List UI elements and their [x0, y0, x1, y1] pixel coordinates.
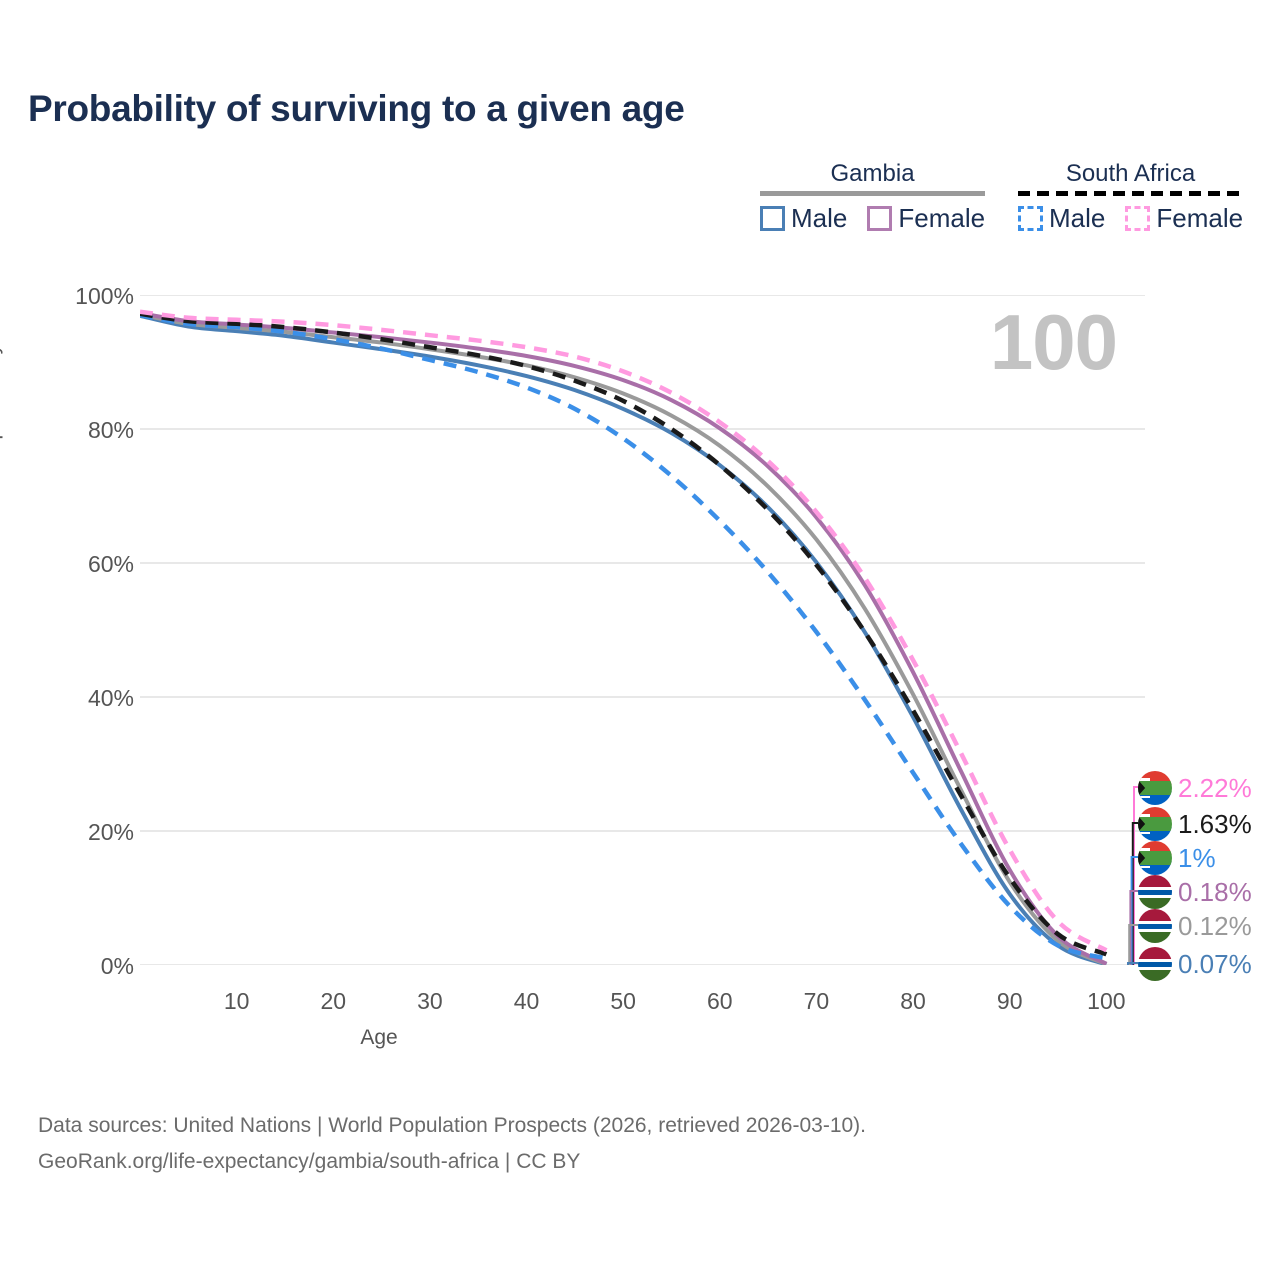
end-label-south-africa-2[interactable]: 1% [1138, 840, 1216, 876]
x-axis-tick-label: 10 [192, 988, 282, 1015]
y-axis-tick-label: 40% [14, 685, 134, 712]
end-label-value: 0.12% [1178, 913, 1252, 939]
end-label-value: 0.07% [1178, 951, 1252, 977]
end-label-gambia-3[interactable]: 0.18% [1138, 874, 1252, 910]
gambia-flag-icon [1138, 947, 1172, 981]
south-africa-flag-icon [1138, 807, 1172, 841]
y-axis-tick-label: 20% [14, 819, 134, 846]
x-axis-tick-label: 30 [385, 988, 475, 1015]
end-label-gambia-5[interactable]: 0.07% [1138, 946, 1252, 982]
y-axis-title: Survival probability [0, 344, 4, 520]
legend-swatch-gambia-male [760, 206, 785, 231]
series-line [140, 316, 1106, 965]
legend-group-gambia: Gambia Male Female [760, 160, 985, 231]
chart-canvas [140, 295, 1145, 965]
chart-legend: Gambia Male Female South Africa Male [760, 160, 1260, 250]
end-label-value: 1.63% [1178, 811, 1252, 837]
series-line [140, 315, 1106, 958]
legend-rule-dashed [1018, 191, 1243, 196]
footer-line-sources: Data sources: United Nations | World Pop… [38, 1108, 866, 1144]
legend-label-gambia-male: Male [791, 205, 847, 231]
plot-area: 100 [140, 295, 1145, 965]
end-label-gambia-4[interactable]: 0.12% [1138, 908, 1252, 944]
page-title: Probability of surviving to a given age [28, 88, 685, 130]
x-axis-tick-label: 80 [868, 988, 958, 1015]
series-line [140, 314, 1106, 964]
legend-swatch-south-africa-male [1018, 206, 1043, 231]
x-axis-tick-label: 60 [675, 988, 765, 1015]
x-axis-tick-label: 40 [482, 988, 572, 1015]
gambia-flag-icon [1138, 909, 1172, 943]
x-axis-tick-label: 50 [578, 988, 668, 1015]
x-axis-tick-label: 20 [288, 988, 378, 1015]
legend-group-title-gambia: Gambia [760, 160, 985, 188]
y-axis-tick-label: 100% [14, 283, 134, 310]
x-axis-title: Age [0, 1026, 1279, 1050]
legend-item-south-africa-male[interactable]: Male [1018, 205, 1105, 231]
x-axis-tick-label: 100 [1061, 988, 1151, 1015]
watermark-label: 100 [990, 303, 1117, 381]
legend-label-south-africa-male: Male [1049, 205, 1105, 231]
south-africa-flag-icon [1138, 771, 1172, 805]
chart-root: Probability of surviving to a given age … [0, 0, 1280, 1280]
end-label-value: 0.18% [1178, 879, 1252, 905]
x-axis-title-text: Age [360, 1026, 397, 1049]
legend-group-title-south-africa: South Africa [1018, 160, 1243, 188]
y-axis-tick-label: 0% [14, 953, 134, 980]
legend-rule-solid [760, 191, 985, 196]
y-axis-tick-label: 80% [14, 417, 134, 444]
legend-swatch-south-africa-female [1125, 206, 1150, 231]
legend-label-gambia-female: Female [898, 205, 985, 231]
end-label-south-africa-0[interactable]: 2.22% [1138, 770, 1252, 806]
footer: Data sources: United Nations | World Pop… [38, 1108, 866, 1180]
y-axis-tick-label: 60% [14, 551, 134, 578]
south-africa-flag-icon [1138, 841, 1172, 875]
gambia-flag-icon [1138, 875, 1172, 909]
legend-group-south-africa: South Africa Male Female [1018, 160, 1243, 231]
x-axis-tick-label: 90 [965, 988, 1055, 1015]
end-label-value: 2.22% [1178, 775, 1252, 801]
legend-swatch-gambia-female [867, 206, 892, 231]
legend-item-south-africa-female[interactable]: Female [1125, 205, 1243, 231]
end-label-south-africa-1[interactable]: 1.63% [1138, 806, 1252, 842]
legend-item-gambia-female[interactable]: Female [867, 205, 985, 231]
footer-line-attribution: GeoRank.org/life-expectancy/gambia/south… [38, 1144, 866, 1180]
legend-item-gambia-male[interactable]: Male [760, 205, 847, 231]
legend-label-south-africa-female: Female [1156, 205, 1243, 231]
end-label-value: 1% [1178, 845, 1216, 871]
x-axis-tick-label: 70 [771, 988, 861, 1015]
